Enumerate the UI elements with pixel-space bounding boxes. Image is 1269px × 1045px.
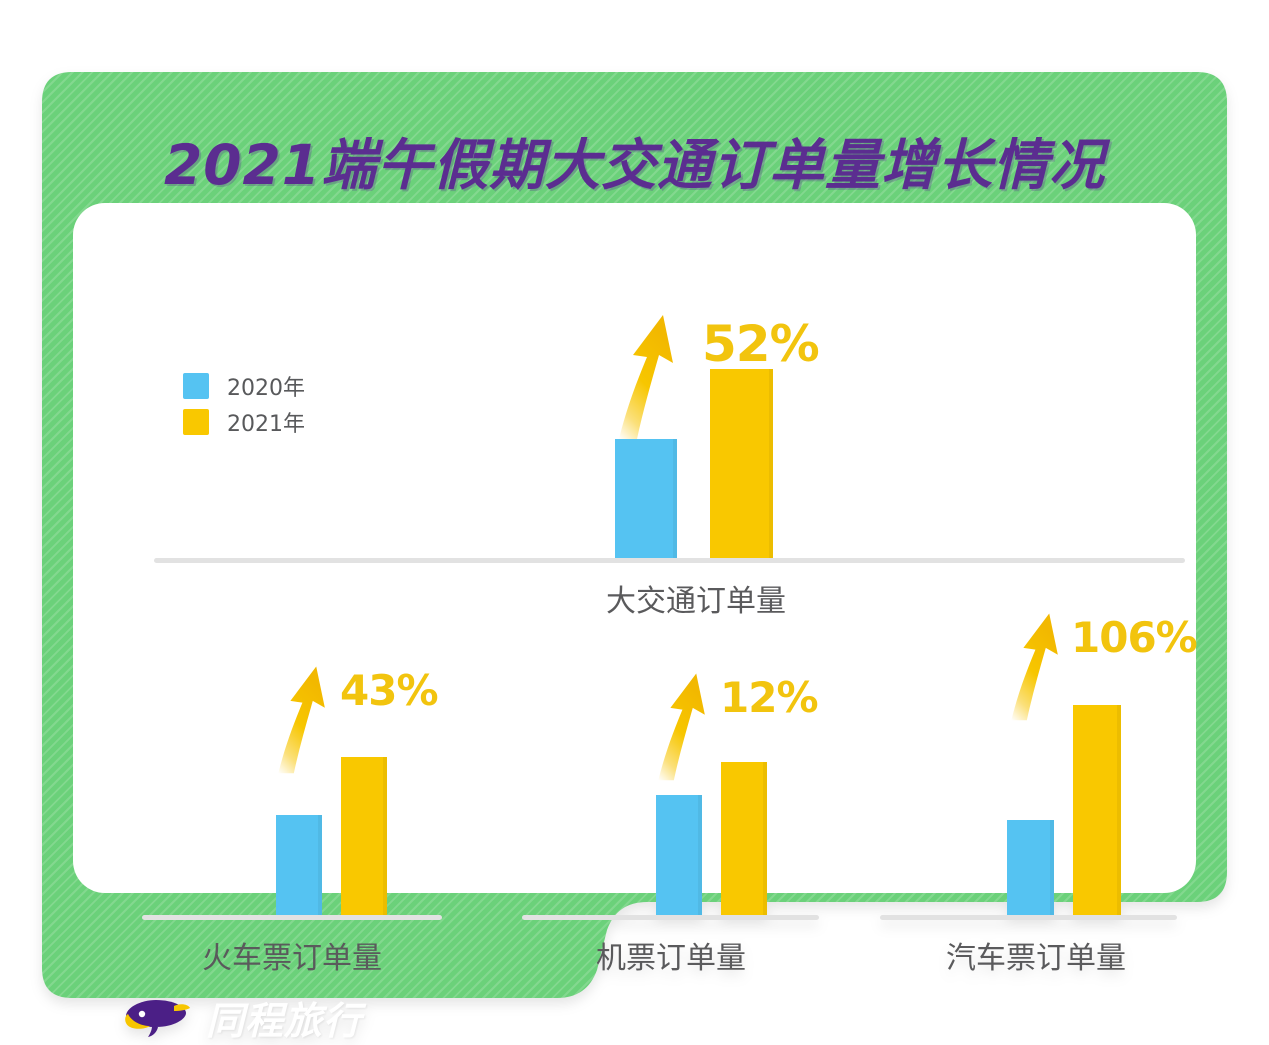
bar-2021-bus — [1073, 705, 1121, 917]
bar-2020-train — [276, 815, 322, 917]
chart-group-train: 43% 火车票订单量 — [113, 643, 443, 893]
bar-shade — [769, 369, 773, 560]
bar-shade — [698, 795, 702, 917]
bar-2020-air — [656, 795, 702, 917]
bar-2020-bus — [1007, 820, 1054, 917]
bar-shade — [1117, 705, 1121, 917]
chart-group-main: 52% 大交通订单量 — [73, 203, 1196, 633]
tongcheng-bird-icon — [122, 994, 192, 1042]
axis-line-main — [154, 558, 1185, 563]
chart-card: 2020年 2021年 52% — [73, 203, 1196, 893]
bar-2021-train — [341, 757, 387, 917]
axis-line-train — [142, 915, 442, 920]
bar-2021-main — [710, 369, 773, 560]
category-label-train: 火车票订单量 — [162, 933, 422, 977]
bar-shade — [318, 815, 322, 917]
axis-line-bus — [880, 915, 1177, 920]
growth-label-train: 43% — [340, 666, 438, 715]
chart-group-air: 12% 机票订单量 — [493, 643, 823, 893]
category-label-air: 机票订单量 — [556, 933, 786, 977]
growth-label-air: 12% — [720, 673, 818, 722]
brand-name: 同程旅行 — [206, 990, 362, 1045]
bar-shade — [1050, 820, 1054, 917]
axis-line-air — [522, 915, 819, 920]
chart-group-bus: 106% 汽车票订单量 — [858, 643, 1198, 893]
bar-shade — [673, 439, 677, 560]
brand-footer: 同程旅行 — [122, 990, 362, 1045]
growth-label-bus: 106% — [1071, 613, 1197, 662]
bar-shade — [383, 757, 387, 917]
poster-panel: 2021端午假期大交通订单量增长情况 2020年 2021年 — [42, 72, 1227, 998]
bar-2020-main — [615, 439, 677, 560]
page-title: 2021端午假期大交通订单量增长情况 — [42, 120, 1227, 200]
category-label-bus: 汽车票订单量 — [891, 933, 1181, 977]
bar-shade — [763, 762, 767, 917]
category-label-main: 大交通订单量 — [516, 576, 876, 620]
bar-2021-air — [721, 762, 767, 917]
